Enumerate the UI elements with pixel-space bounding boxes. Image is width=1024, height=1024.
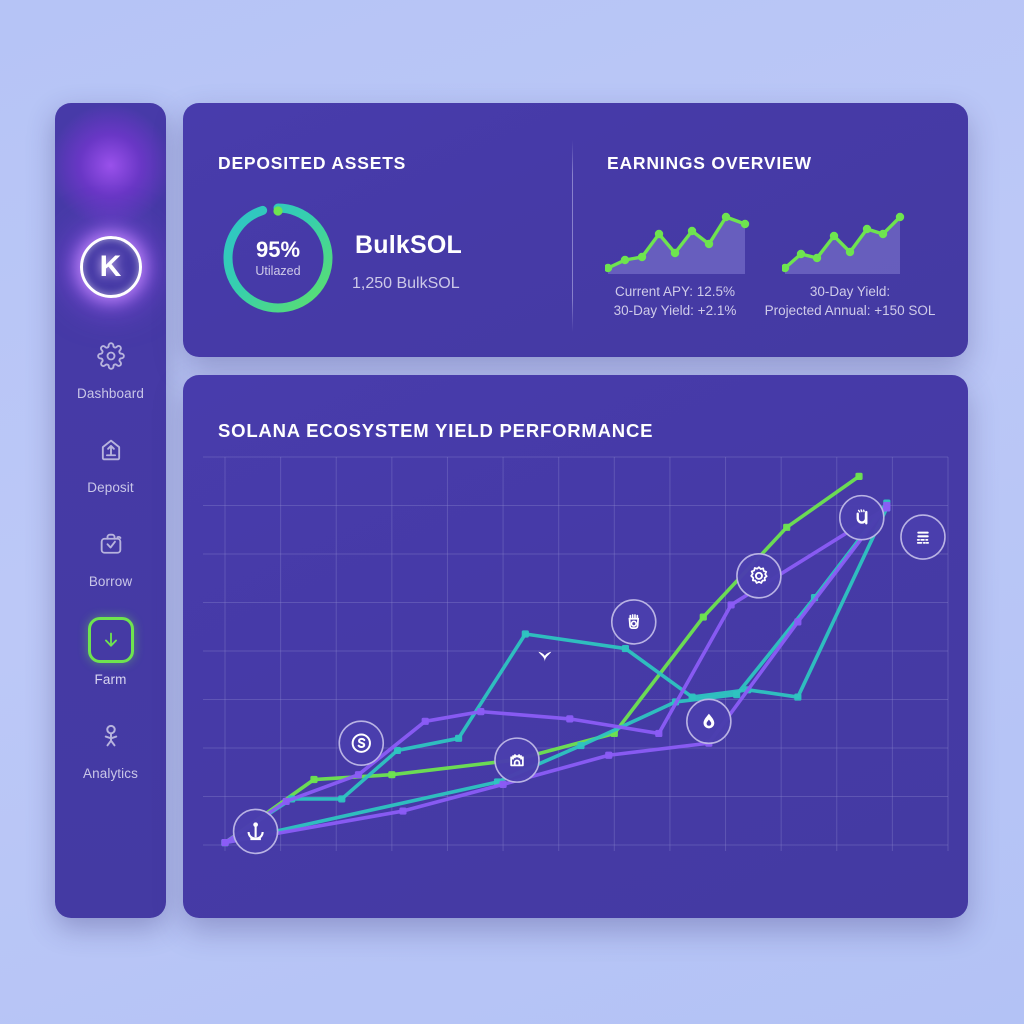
yield-performance-chart bbox=[183, 375, 968, 918]
sidebar-item-label: Dashboard bbox=[77, 386, 144, 401]
fortress-icon[interactable] bbox=[495, 738, 539, 782]
sidebar-item-dashboard[interactable]: Dashboard bbox=[55, 335, 166, 401]
earnings-overview-title: EARNINGS OVERVIEW bbox=[607, 153, 812, 174]
asset-name: BulkSOL bbox=[355, 231, 462, 260]
logo-glow bbox=[55, 103, 166, 233]
earnings-line-1: 30-Day Yield: bbox=[750, 282, 950, 301]
person-icon bbox=[90, 715, 132, 757]
earnings-card-1-text: 30-Day Yield: Projected Annual: +150 SOL bbox=[750, 282, 950, 320]
sidebar-item-label: Borrow bbox=[89, 574, 132, 589]
droplet-icon[interactable] bbox=[687, 699, 731, 743]
sidebar-item-label: Deposit bbox=[87, 480, 133, 495]
app-root: K Dashboard bbox=[0, 0, 1024, 1024]
sparkline-yield bbox=[782, 196, 918, 283]
list-icon[interactable] bbox=[901, 515, 945, 559]
sidebar-item-farm[interactable]: Farm bbox=[55, 617, 166, 687]
sparkline-apy bbox=[605, 196, 750, 283]
glyph-u-icon[interactable] bbox=[840, 496, 884, 540]
deposited-assets-title: DEPOSITED ASSETS bbox=[218, 153, 406, 174]
coin-s-icon[interactable] bbox=[339, 721, 383, 765]
sidebar-item-analytics[interactable]: Analytics bbox=[55, 715, 166, 781]
sidebar: K Dashboard bbox=[55, 103, 166, 918]
arrow-down-icon bbox=[88, 617, 134, 663]
briefcase-check-icon bbox=[90, 523, 132, 565]
earnings-card-0-text: Current APY: 12.5% 30-Day Yield: +2.1% bbox=[600, 282, 750, 320]
earnings-line-1: Current APY: 12.5% bbox=[600, 282, 750, 301]
anchor-icon[interactable] bbox=[234, 809, 278, 853]
deposit-icon bbox=[90, 429, 132, 471]
panel-divider bbox=[572, 140, 573, 332]
sidebar-item-deposit[interactable]: Deposit bbox=[55, 429, 166, 495]
sidebar-nav: Dashboard Deposit bbox=[55, 335, 166, 809]
asset-amount: 1,250 BulkSOL bbox=[352, 275, 460, 293]
donut-percent: 95% bbox=[256, 239, 300, 261]
donut-center-text: 95% Utilazed bbox=[219, 199, 337, 317]
gear-icon[interactable] bbox=[737, 554, 781, 598]
earnings-line-2: 30-Day Yield: +2.1% bbox=[600, 301, 750, 320]
earnings-line-2: Projected Annual: +150 SOL bbox=[750, 301, 950, 320]
donut-sublabel: Utilazed bbox=[255, 264, 300, 278]
marinade-icon[interactable] bbox=[612, 600, 656, 644]
chart-series bbox=[221, 473, 890, 846]
gear-icon bbox=[90, 335, 132, 377]
sidebar-item-label: Farm bbox=[95, 672, 127, 687]
utilization-donut: 95% Utilazed bbox=[219, 199, 337, 317]
sidebar-item-label: Analytics bbox=[83, 766, 138, 781]
kamino-logo[interactable]: K bbox=[80, 236, 142, 298]
whale-tail-icon[interactable] bbox=[538, 652, 551, 662]
sidebar-item-borrow[interactable]: Borrow bbox=[55, 523, 166, 589]
logo-letter: K bbox=[100, 252, 122, 282]
